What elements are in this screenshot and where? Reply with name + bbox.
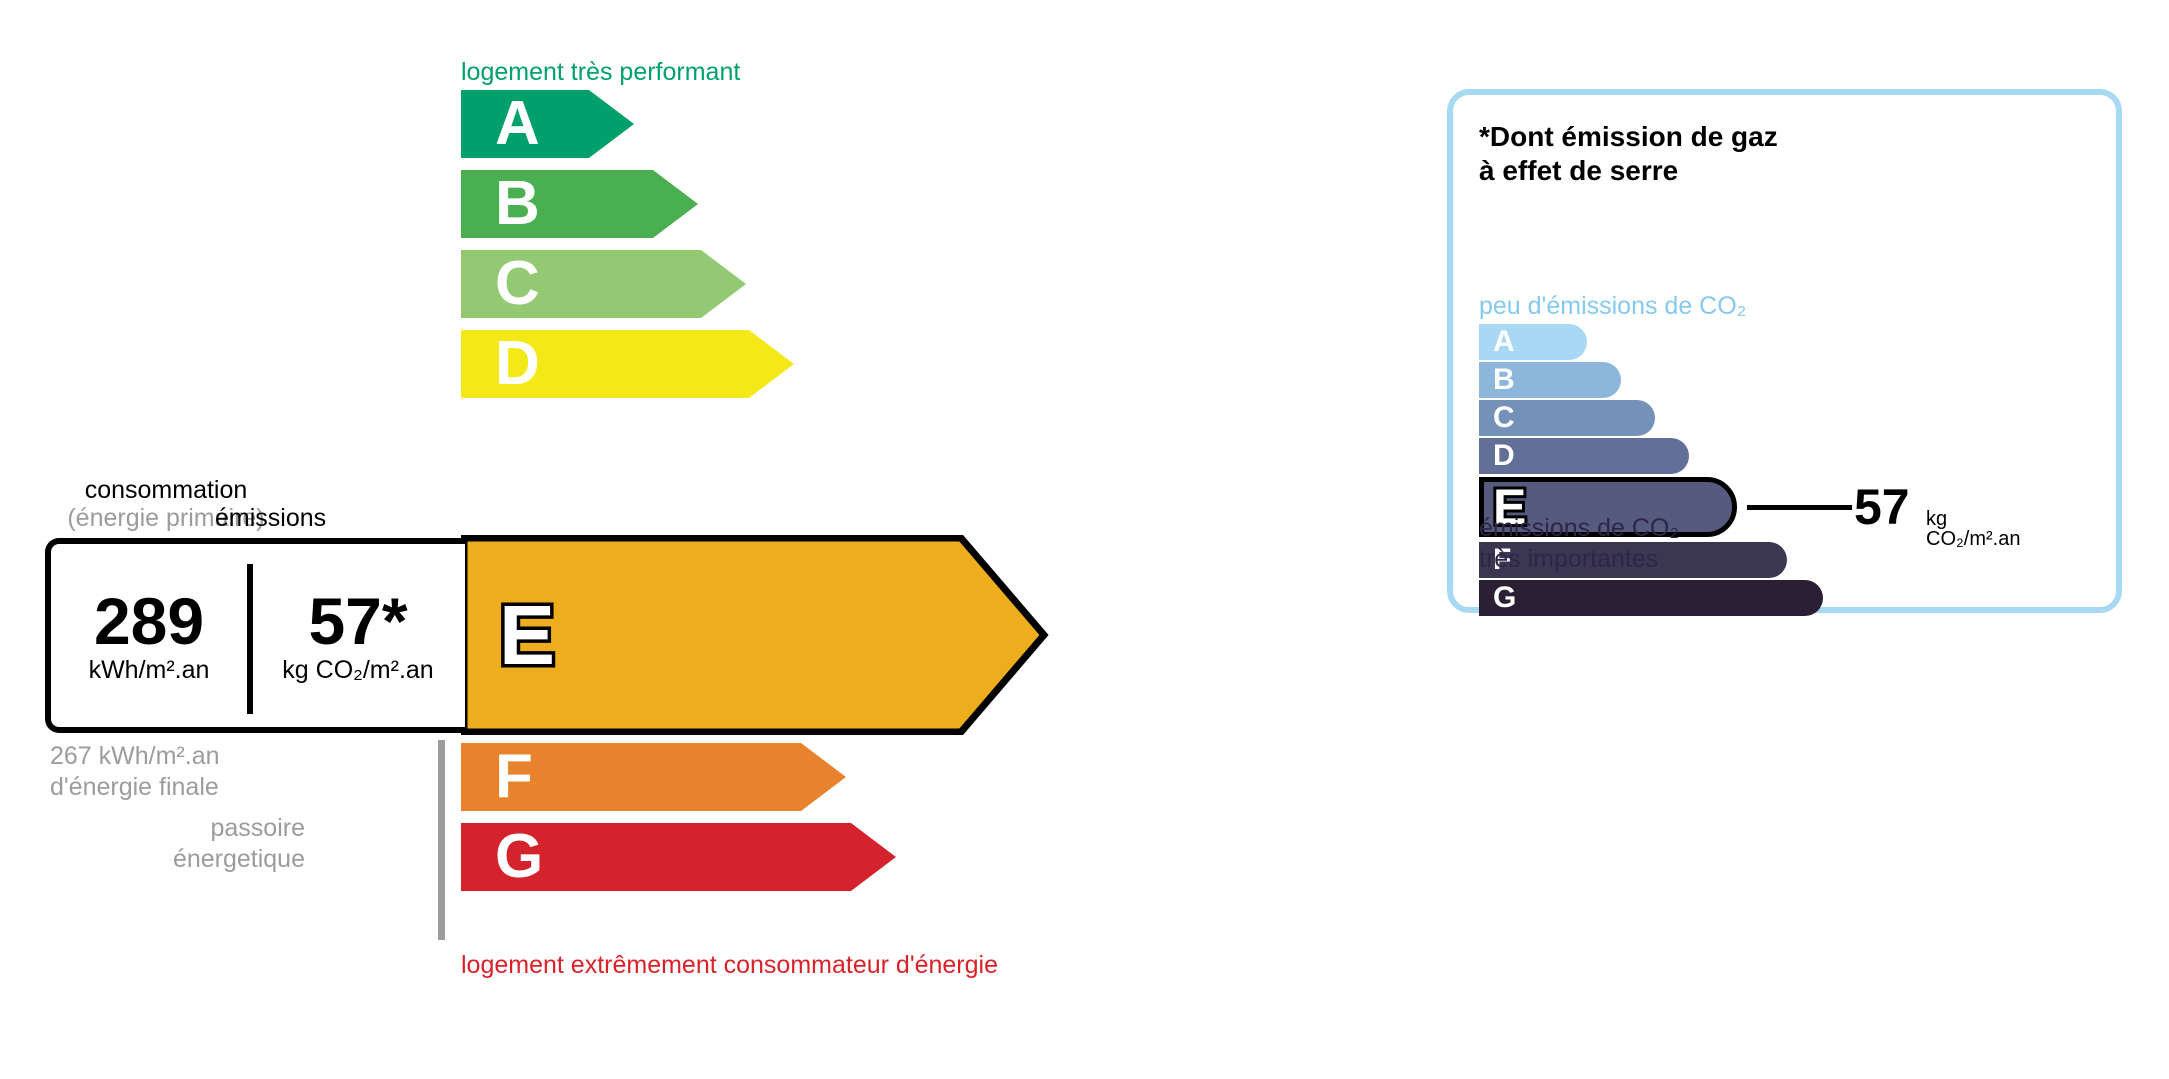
co2-callout-line — [1747, 505, 1852, 510]
co2-bar-B-letter: B — [1493, 365, 1515, 395]
co2-caption-bottom: émissions de CO₂ très importantes — [1479, 513, 1679, 574]
emissions-cell: 57* kg CO₂/m².an — [251, 544, 465, 727]
co2-bar-G-letter: G — [1493, 583, 1516, 613]
final-energy-note: 267 kWh/m².an d'énergie finale — [50, 741, 220, 804]
energy-band-D: D — [461, 330, 794, 398]
co2-caption-top: peu d'émissions de CO₂ — [1479, 292, 1746, 321]
energy-band-B-letter: B — [495, 173, 540, 235]
emissions-unit: kg CO₂/m².an — [282, 658, 433, 683]
energy-bottom-caption: logement extrêmement consommateur d'éner… — [461, 951, 998, 980]
energy-band-C-letter: C — [495, 253, 540, 315]
co2-bar-G — [1479, 580, 1823, 616]
co2-emissions-panel: *Dont émission de gaz à effet de serre p… — [1447, 89, 2122, 613]
energy-band-B: B — [461, 170, 698, 238]
energy-band-C: C — [461, 250, 746, 318]
energy-band-A-letter: A — [495, 93, 540, 155]
energy-top-caption: logement très performant — [461, 58, 740, 87]
emissions-label: émissions — [215, 505, 326, 533]
energy-band-G-letter: G — [495, 826, 543, 888]
energy-band-G: G — [461, 823, 896, 891]
energy-band-F-letter: F — [495, 746, 533, 808]
energy-band-E-letter: E — [499, 593, 555, 677]
energy-band-A: A — [461, 90, 634, 158]
co2-bar-C-letter: C — [1493, 403, 1515, 433]
passoire-indicator-bar — [438, 740, 445, 940]
primary-energy-unit: kWh/m².an — [89, 658, 210, 683]
value-box: 289 kWh/m².an 57* kg CO₂/m².an — [45, 538, 465, 733]
energy-band-D-letter: D — [495, 333, 540, 395]
emissions-value: 57* — [308, 588, 407, 654]
co2-bar-A-letter: A — [1493, 327, 1515, 357]
energy-band-E-current: E — [461, 535, 1049, 735]
energy-band-F: F — [461, 743, 846, 811]
energy-performance-diagram: logement très performant A B C D E — [0, 0, 1400, 1079]
passoire-energetique-note: passoire énergetique — [120, 813, 305, 876]
co2-callout-value: 57 — [1854, 482, 1910, 532]
co2-panel-title: *Dont émission de gaz à effet de serre — [1479, 120, 1778, 188]
consumption-label: consommation — [85, 476, 248, 504]
primary-energy-value: 289 — [94, 588, 204, 654]
co2-bar-D-letter: D — [1493, 441, 1515, 471]
co2-callout-unit: kg CO₂/m².an — [1926, 509, 2020, 549]
primary-energy-cell: 289 kWh/m².an — [51, 544, 247, 727]
